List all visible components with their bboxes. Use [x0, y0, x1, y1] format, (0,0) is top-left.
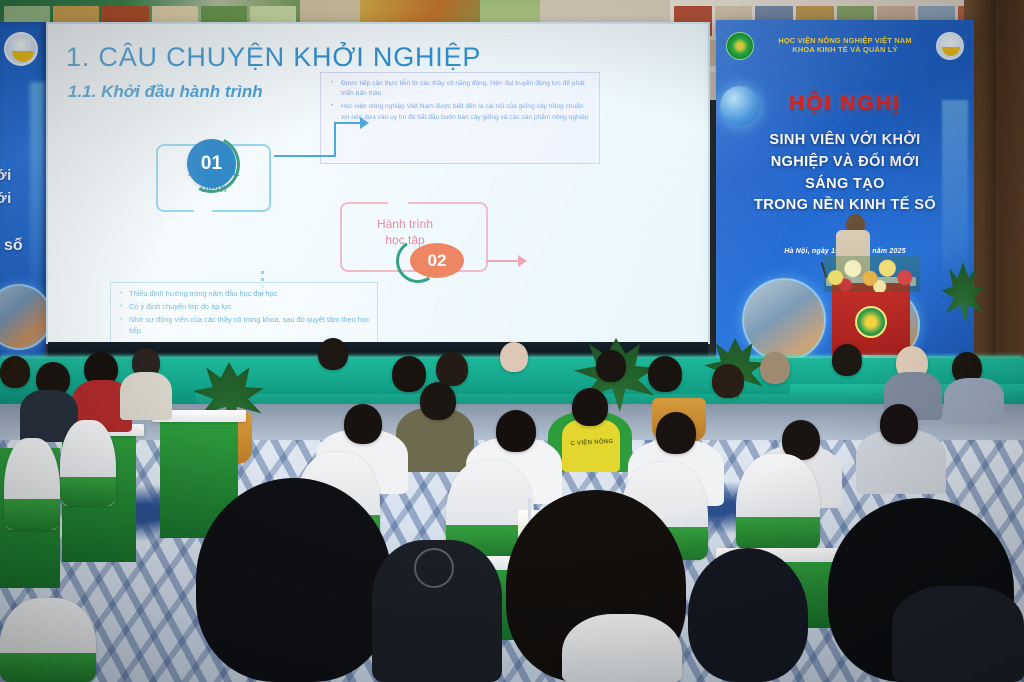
- audience-head: [420, 382, 456, 420]
- audience-head: [656, 412, 696, 454]
- audience-head: [496, 410, 536, 452]
- bag-logo-icon: [414, 548, 454, 588]
- audience-body: [120, 372, 172, 420]
- audience-head: [712, 364, 744, 398]
- audience-head: [880, 404, 918, 444]
- audience-chair: [0, 598, 96, 682]
- foreground-person: [688, 548, 808, 682]
- slide-bullet: Nhờ sự động viên của các thầy cô trong k…: [118, 314, 370, 336]
- banner-photo-circle: [742, 278, 826, 362]
- faculty-logo-icon: [936, 32, 964, 60]
- audience-head: [436, 352, 468, 386]
- slide-subtitle: 1.1. Khởi đầu hành trình: [68, 82, 263, 102]
- left-led-banner: ới ới số: [0, 22, 46, 362]
- university-seal-icon: [855, 306, 887, 338]
- banner-title: SINH VIÊN VỚI KHỞI NGHIỆP VÀ ĐỔI MỚI SÁN…: [716, 130, 974, 217]
- conference-hall-scene: ới ới số 1. CÂU CHUYỆN KHỞI NGHIỆP 1.1. …: [0, 0, 1024, 682]
- banner-org-line2: KHOA KINH TẾ VÀ QUẢN LÝ: [760, 46, 930, 55]
- agriculture-logo-icon: [726, 32, 754, 60]
- node-02-number: 02: [410, 243, 464, 278]
- node-02-label-line1: Hành trình: [340, 216, 470, 232]
- left-banner-text-2: ới: [0, 190, 12, 207]
- audience-head: [572, 388, 608, 426]
- university-logo-icon: [4, 32, 38, 66]
- audience-head: [596, 350, 626, 382]
- audience-head: [760, 352, 790, 384]
- banner-title-line2: NGHIỆP VÀ ĐỔI MỚI: [716, 152, 974, 174]
- slide-title: 1. CÂU CHUYỆN KHỞI NGHIỆP: [66, 42, 481, 73]
- slide-bullet: Có ý định chuyển lớp do áp lực: [118, 301, 370, 312]
- banner-title-line1: SINH VIÊN VỚI KHỞI: [716, 130, 974, 152]
- banner-title-line3: SÁNG TẠO: [716, 174, 974, 196]
- audience-chair: [736, 454, 820, 550]
- audience-head: [344, 404, 382, 444]
- foreground-person-body: [892, 586, 1024, 682]
- node-01-number: 01: [187, 139, 236, 188]
- audience-head: [0, 356, 30, 388]
- slide-bullet: Được tiếp cận thực tiễn từ các thầy cô n…: [329, 79, 591, 99]
- slide-bullet: Thiếu định hướng trong năm đầu học đại h…: [118, 288, 370, 299]
- left-banner-text-3: số: [4, 237, 23, 255]
- projection-screen: 1. CÂU CHUYỆN KHỞI NGHIỆP 1.1. Khởi đầu …: [48, 24, 708, 342]
- audience-chair: [60, 420, 116, 506]
- banner-org-text: HỌC VIỆN NÔNG NGHIỆP VIỆT NAM KHOA KINH …: [760, 37, 930, 54]
- flower-arrangement: [824, 256, 920, 292]
- audience-chair: [562, 614, 682, 682]
- banner-header: HỌC VIỆN NÔNG NGHIỆP VIỆT NAM KHOA KINH …: [716, 28, 974, 64]
- banner-title-line4: TRONG NỀN KINH TẾ SỐ: [716, 195, 974, 217]
- audience-head: [318, 338, 348, 370]
- audience-head: [500, 342, 528, 372]
- audience-head: [392, 356, 426, 392]
- banner-photo-circle: [0, 284, 46, 350]
- audience-body: [944, 378, 1004, 424]
- left-banner-text-1: ới: [0, 167, 12, 184]
- foreground-person: [196, 478, 392, 682]
- banner-eyebrow: HỘI NGHỊ: [716, 92, 974, 116]
- audience-head: [832, 344, 862, 376]
- banner-glow: [30, 82, 44, 312]
- audience-chair: [4, 438, 60, 530]
- audience-head: [648, 356, 682, 392]
- slide-bullet-box-bottom: Thiếu định hướng trong năm đầu học đại h…: [110, 282, 378, 342]
